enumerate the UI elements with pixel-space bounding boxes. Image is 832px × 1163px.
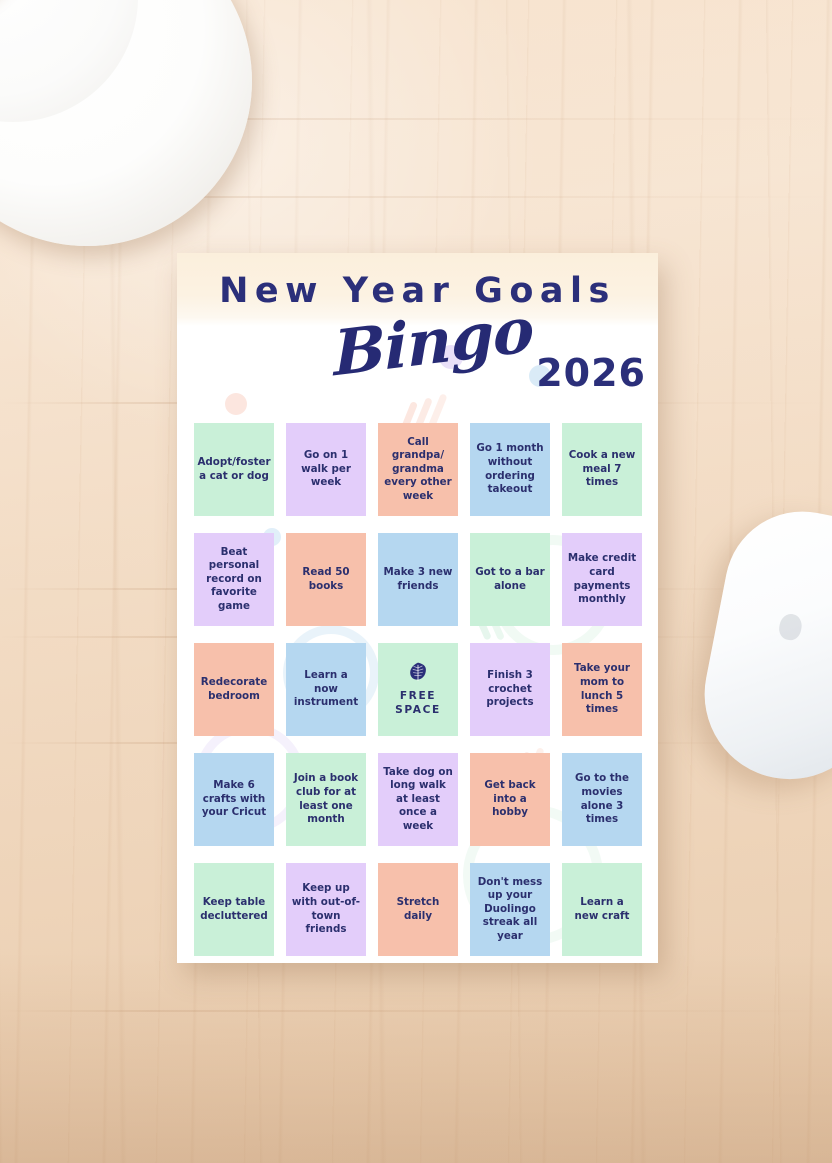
bingo-cell[interactable]: Take dog on long walk at least once a we… xyxy=(378,753,458,846)
bingo-cell[interactable]: Stretch daily xyxy=(378,863,458,956)
bingo-cell[interactable]: FREESPACE xyxy=(378,643,458,736)
computer-mouse xyxy=(690,498,832,794)
saucer xyxy=(0,0,252,246)
bingo-cell-label: Beat personal record on favorite game xyxy=(199,546,269,614)
bingo-cell-label: Got to a bar alone xyxy=(475,566,545,593)
bingo-cell-label: Go 1 month without ordering takeout xyxy=(475,442,545,496)
bingo-cell[interactable]: Got to a bar alone xyxy=(470,533,550,626)
bingo-cell[interactable]: Go on 1 walk per week xyxy=(286,423,366,516)
saucer-inner-ring xyxy=(0,0,138,122)
bingo-cell-label: Join a book club for at least one month xyxy=(291,772,361,826)
bingo-cell[interactable]: Join a book club for at least one month xyxy=(286,753,366,846)
bingo-cell-label: Go on 1 walk per week xyxy=(291,449,361,490)
bingo-cell[interactable]: Finish 3 crochet projects xyxy=(470,643,550,736)
bingo-cell-label: Don't mess up your Duolingo streak all y… xyxy=(475,876,545,944)
bingo-cell-label: FREESPACE xyxy=(395,689,441,718)
bingo-cell[interactable]: Make credit card payments monthly xyxy=(562,533,642,626)
bingo-cell-label: Go to the movies alone 3 times xyxy=(567,772,637,826)
bingo-cell[interactable]: Learn a new craft xyxy=(562,863,642,956)
bingo-cell[interactable]: Don't mess up your Duolingo streak all y… xyxy=(470,863,550,956)
bingo-cell-label: Finish 3 crochet projects xyxy=(475,669,545,710)
bingo-cell-label: Adopt/foster a cat or dog xyxy=(197,456,270,483)
bingo-cell-label: Redecorate bedroom xyxy=(199,676,269,703)
wood-grain-streak xyxy=(0,1010,832,1012)
bingo-cell[interactable]: Call grandpa/ grandma every other week xyxy=(378,423,458,516)
bingo-cell-label: Learn a now instrument xyxy=(291,669,361,710)
bingo-cell-label: Make credit card payments monthly xyxy=(567,552,637,606)
bingo-cell[interactable]: Go 1 month without ordering takeout xyxy=(470,423,550,516)
bingo-cell[interactable]: Beat personal record on favorite game xyxy=(194,533,274,626)
bingo-cell-label: Take your mom to lunch 5 times xyxy=(567,662,637,716)
bingo-cell-label: Make 6 crafts with your Cricut xyxy=(199,779,269,820)
bingo-cell-label: Call grandpa/ grandma every other week xyxy=(383,436,453,504)
page-title: New Year Goals xyxy=(177,271,658,311)
bingo-cell-label: Make 3 new friends xyxy=(383,566,453,593)
bingo-cell-label: Stretch daily xyxy=(383,896,453,923)
bingo-cell-label: Take dog on long walk at least once a we… xyxy=(383,766,453,834)
bingo-cell-label: Get back into a hobby xyxy=(475,779,545,820)
bingo-cell-label: Keep table decluttered xyxy=(199,896,269,923)
bingo-cell[interactable]: Read 50 books xyxy=(286,533,366,626)
bingo-cell[interactable]: Make 3 new friends xyxy=(378,533,458,626)
bingo-cell[interactable]: Learn a now instrument xyxy=(286,643,366,736)
bingo-grid: Adopt/foster a cat or dogGo on 1 walk pe… xyxy=(194,423,641,956)
desk-scene: New Year Goals Bingo 2026 Adopt/foster a… xyxy=(0,0,832,1163)
bingo-cell[interactable]: Cook a new meal 7 times xyxy=(562,423,642,516)
mouse-logo xyxy=(777,612,804,642)
bingo-cell-label: Learn a new craft xyxy=(567,896,637,923)
bingo-cell[interactable]: Redecorate bedroom xyxy=(194,643,274,736)
card-title-row: New Year Goals xyxy=(177,271,658,311)
bingo-cell[interactable]: Make 6 crafts with your Cricut xyxy=(194,753,274,846)
bingo-cell[interactable]: Adopt/foster a cat or dog xyxy=(194,423,274,516)
desk-edge-shadow xyxy=(0,953,832,1163)
bingo-cell[interactable]: Take your mom to lunch 5 times xyxy=(562,643,642,736)
bingo-cell[interactable]: Keep up with out-of-town friends xyxy=(286,863,366,956)
year-label: 2026 xyxy=(536,351,646,395)
leaf-icon xyxy=(409,662,427,682)
bingo-cell[interactable]: Get back into a hobby xyxy=(470,753,550,846)
bingo-cell-label: Read 50 books xyxy=(291,566,361,593)
bingo-card: New Year Goals Bingo 2026 Adopt/foster a… xyxy=(177,253,658,963)
bingo-cell[interactable]: Keep table decluttered xyxy=(194,863,274,956)
bingo-cell[interactable]: Go to the movies alone 3 times xyxy=(562,753,642,846)
bingo-cell-label: Keep up with out-of-town friends xyxy=(291,882,361,936)
bingo-cell-label: Cook a new meal 7 times xyxy=(567,449,637,490)
